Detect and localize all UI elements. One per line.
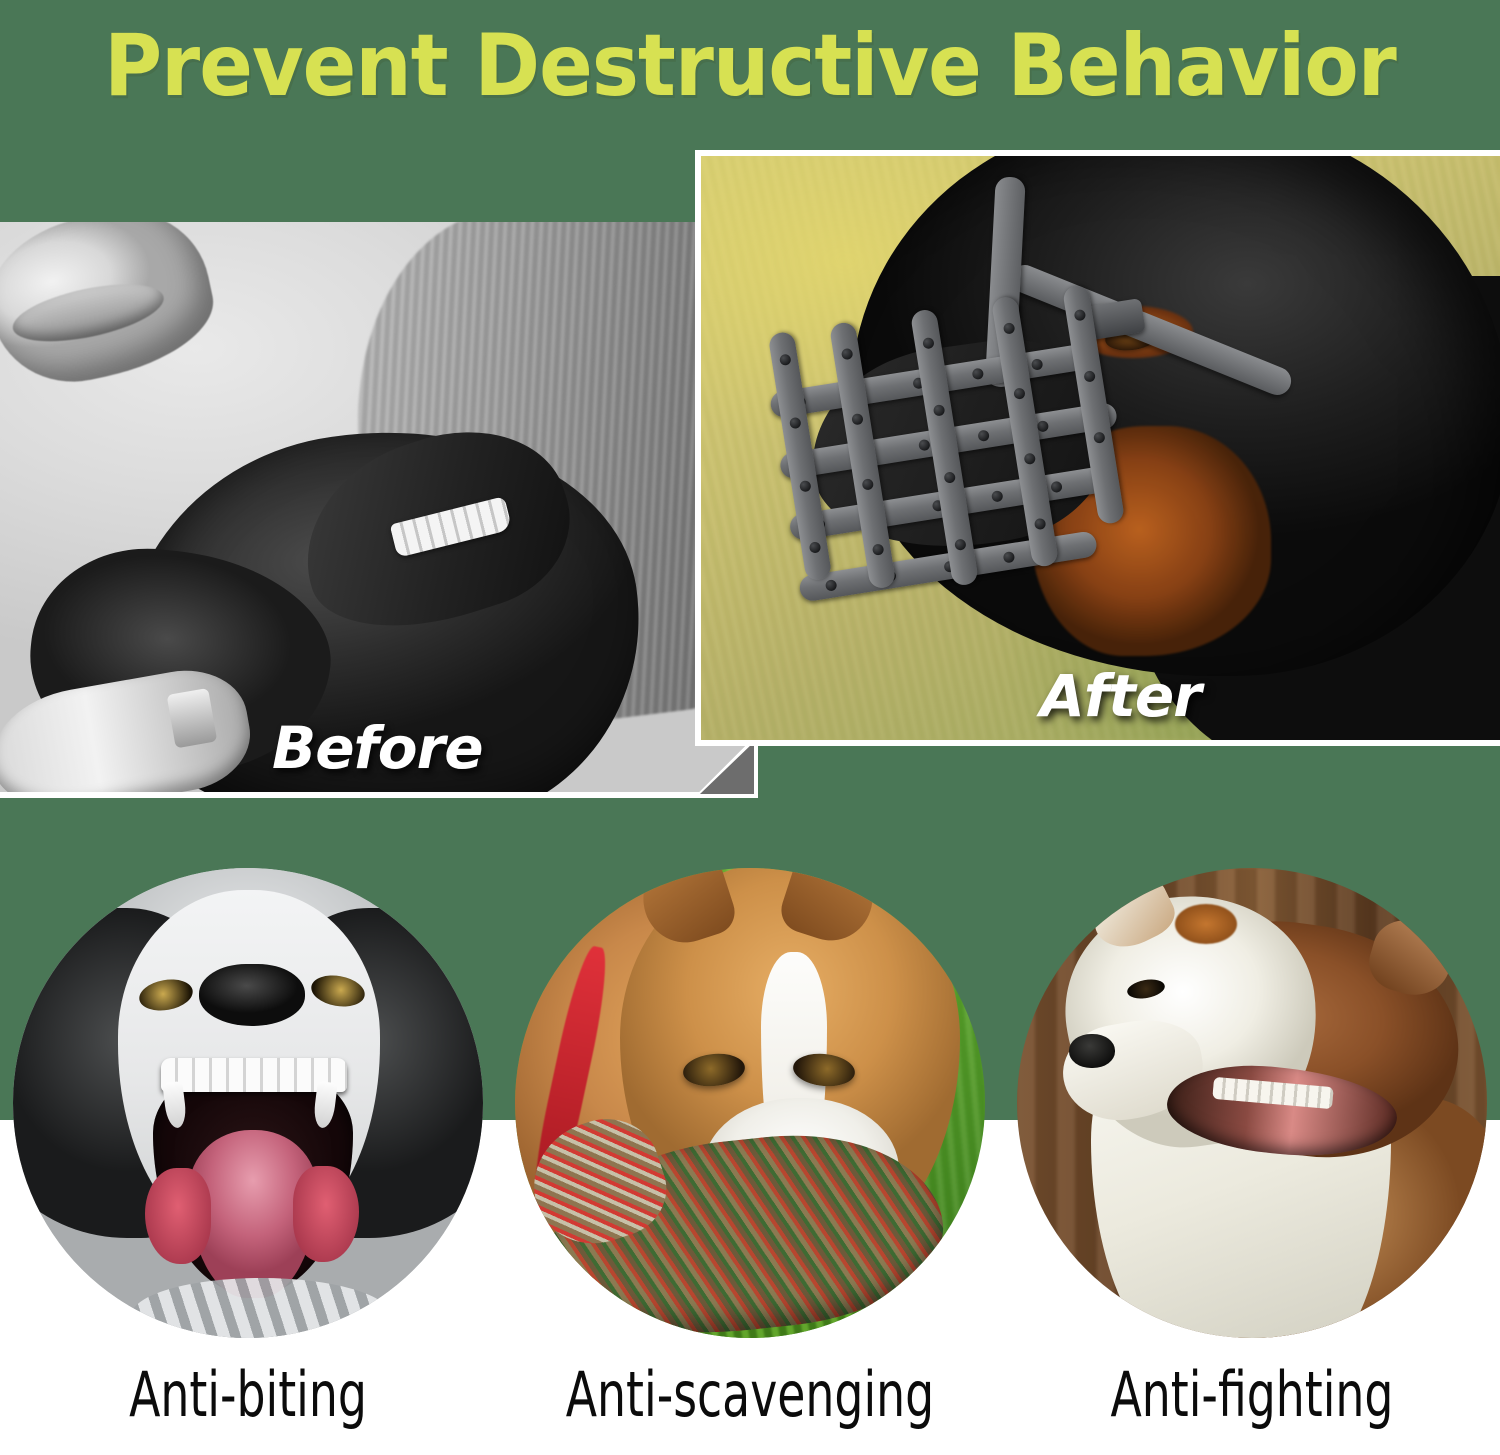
- c3-white-dog-nose: [1069, 1034, 1115, 1068]
- after-label: After: [1040, 662, 1201, 730]
- feature-anti-fighting: Anti-fighting: [1012, 868, 1492, 1430]
- basket-muzzle-product: [760, 280, 1162, 633]
- after-photo: [701, 156, 1500, 740]
- anti-fighting-photo: [1017, 868, 1487, 1338]
- c3-white-dog-patch: [1175, 904, 1237, 944]
- after-image-panel: [695, 150, 1500, 746]
- before-photo: [0, 222, 752, 792]
- anti-biting-photo: [13, 868, 483, 1338]
- feature-label-anti-fighting: Anti-fighting: [1055, 1360, 1449, 1430]
- c1-gum-left: [145, 1168, 211, 1264]
- feature-anti-biting: Anti-biting: [8, 868, 488, 1430]
- before-image-panel: [0, 222, 758, 798]
- feature-row: Anti-biting Anti-scavenging: [0, 868, 1500, 1455]
- feature-anti-scavenging: Anti-scavenging: [510, 868, 990, 1430]
- page-title: Prevent Destructive Behavior: [60, 18, 1440, 114]
- folded-corner-triangle-icon: [700, 742, 754, 794]
- anti-scavenging-photo: [515, 868, 985, 1338]
- before-label: Before: [272, 714, 483, 782]
- feature-label-anti-biting: Anti-biting: [51, 1360, 445, 1430]
- feature-label-anti-scavenging: Anti-scavenging: [553, 1360, 947, 1430]
- c1-nose: [199, 964, 305, 1026]
